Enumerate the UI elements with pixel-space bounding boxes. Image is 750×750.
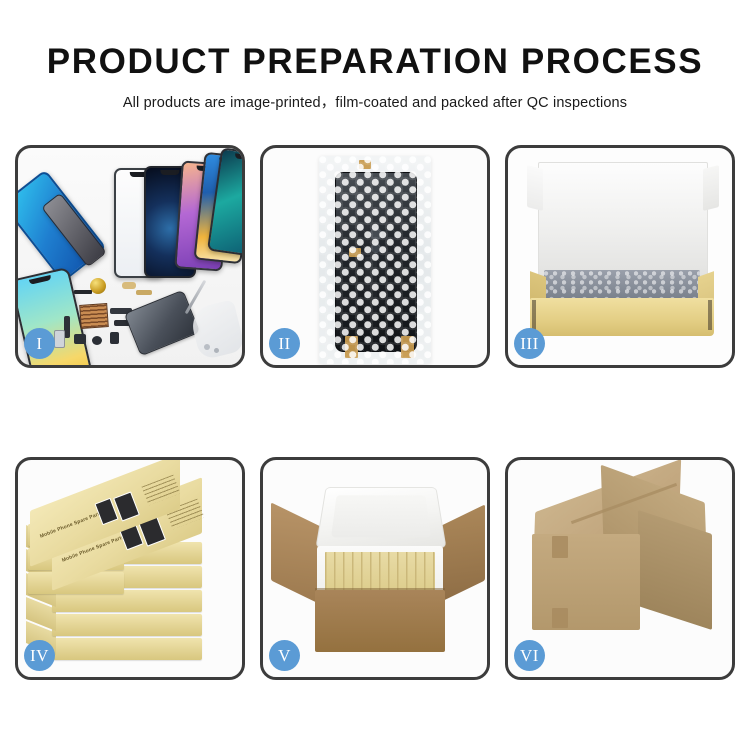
vibration-motor-icon <box>92 336 102 345</box>
box-corner-shadow <box>532 300 536 330</box>
kraft-box-front <box>530 298 714 336</box>
bubble-wrap-illustration <box>263 148 487 365</box>
step-badge-4: IV <box>24 640 55 671</box>
product-preparation-infographic: PRODUCT PREPARATION PROCESS All products… <box>0 0 750 750</box>
step-badge-6: VI <box>514 640 545 671</box>
foam-cooler-lid <box>316 487 447 548</box>
sealed-carton-illustration <box>508 460 732 677</box>
bubble-wrap-bag <box>319 156 431 364</box>
process-step-2: II <box>260 145 490 368</box>
screw-icon <box>204 344 210 350</box>
screw-icon <box>214 348 219 353</box>
stacked-box <box>52 614 202 636</box>
process-step-3: III <box>505 145 735 368</box>
open-box-illustration <box>508 148 732 365</box>
camera-module-icon <box>110 332 119 344</box>
phone-parts-illustration <box>18 148 242 365</box>
step-badge-5: V <box>269 640 300 671</box>
page-title: PRODUCT PREPARATION PROCESS <box>0 0 750 81</box>
carton-front-face <box>532 534 640 630</box>
tape-patch-icon <box>552 608 568 628</box>
kraft-boxes-inside <box>325 552 435 592</box>
gold-connector-icon <box>136 290 152 295</box>
step-badge-1: I <box>24 328 55 359</box>
process-step-5: V <box>260 457 490 680</box>
process-step-1: I <box>15 145 245 368</box>
foam-lid-inset <box>331 495 431 537</box>
logic-board-icon <box>79 303 109 329</box>
notch-icon <box>235 153 242 160</box>
stacked-boxes-illustration: Mobile Phone Spare Parts Mobile Phone Sp… <box>18 460 242 677</box>
carton-body <box>315 590 445 652</box>
step-badge-3: III <box>514 328 545 359</box>
white-box-lid <box>538 162 708 276</box>
header: PRODUCT PREPARATION PROCESS All products… <box>0 0 750 112</box>
notch-icon <box>160 170 179 175</box>
speaker-module-icon <box>74 334 86 344</box>
flex-strip-icon <box>74 290 92 294</box>
small-bracket-icon <box>122 282 136 289</box>
process-step-grid: I II <box>15 145 735 678</box>
page-subtitle: All products are image-printed，film-coat… <box>0 81 750 112</box>
foam-cooler-illustration <box>263 460 487 677</box>
speaker-coil-icon <box>90 278 106 294</box>
tape-patch-icon <box>552 536 568 558</box>
process-step-4: Mobile Phone Spare Parts Mobile Phone Sp… <box>15 457 245 680</box>
process-step-6: VI <box>505 457 735 680</box>
step-badge-2: II <box>269 328 300 359</box>
phone-back-housing-icon <box>124 290 201 357</box>
box-corner-shadow <box>708 300 712 330</box>
sim-tray-icon <box>54 330 65 348</box>
notch-icon <box>29 275 52 285</box>
stacked-box <box>52 638 202 660</box>
bubble-texture <box>319 156 431 364</box>
